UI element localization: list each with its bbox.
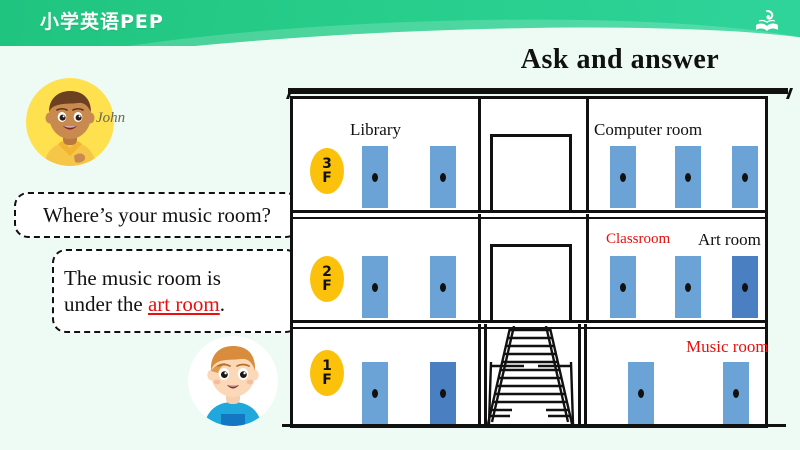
door-2f-left-2 <box>430 256 456 318</box>
door-3f-right-3 <box>732 146 758 208</box>
roof-right-eave <box>772 88 793 99</box>
floor-badge-3f-number: 3 <box>322 157 332 171</box>
door-knob-icon <box>685 173 691 182</box>
answer-speech-bubble: The music room is under the art room. <box>52 249 300 333</box>
door-2f-right-3-art-room <box>732 256 758 318</box>
door-3f-left-1 <box>362 146 388 208</box>
door-1f-left-1 <box>362 362 388 424</box>
door-knob-icon <box>620 173 626 182</box>
floor-badge-2f: 2 F <box>310 256 344 302</box>
question-speech-bubble: Where’s your music room? <box>14 192 300 238</box>
door-knob-icon <box>733 389 739 398</box>
door-3f-right-2 <box>675 146 701 208</box>
john-character: John <box>18 78 138 168</box>
divider-3f-left <box>478 99 481 210</box>
door-knob-icon <box>620 283 626 292</box>
door-2f-left-1 <box>362 256 388 318</box>
app-header: 小学英语PEP <box>0 0 800 46</box>
balcony-2f <box>490 244 572 320</box>
floor-separator-3-2 <box>290 210 768 219</box>
divider-2f-right <box>586 214 589 320</box>
pep-book-logo-icon <box>752 8 782 38</box>
floor-badge-2f-number: 2 <box>322 265 332 279</box>
floor-badge-1f: 1 F <box>310 350 344 396</box>
floor-badge-1f-letter: F <box>322 373 332 387</box>
door-3f-left-2 <box>430 146 456 208</box>
balcony-3f <box>490 134 572 210</box>
room-label-music-room: Music room <box>686 337 769 357</box>
door-knob-icon <box>440 389 446 398</box>
question-text: Where’s your music room? <box>43 203 271 228</box>
divider-1f-left <box>478 324 481 424</box>
divider-3f-right <box>586 99 589 210</box>
page-title: Ask and answer <box>470 44 770 76</box>
room-label-library: Library <box>350 120 401 140</box>
answer-line-1: The music room is <box>64 265 288 291</box>
floor-badge-2f-letter: F <box>322 279 332 293</box>
door-knob-icon <box>440 173 446 182</box>
responder-character <box>188 336 284 432</box>
school-building-diagram: 3 F Library Computer room 2 F Classroom … <box>288 88 792 436</box>
door-2f-right-1 <box>610 256 636 318</box>
door-knob-icon <box>638 389 644 398</box>
room-label-art-room: Art room <box>698 230 761 250</box>
answer-line2-suffix: . <box>220 292 225 316</box>
answer-line2-prefix: under the <box>64 292 148 316</box>
door-2f-right-2 <box>675 256 701 318</box>
door-knob-icon <box>440 283 446 292</box>
answer-line-2: under the art room. <box>64 291 288 317</box>
door-knob-icon <box>742 173 748 182</box>
door-1f-left-2 <box>430 362 456 424</box>
room-label-computer-room: Computer room <box>594 120 702 140</box>
answer-highlight-art-room: art room <box>148 292 220 316</box>
door-3f-right-1 <box>610 146 636 208</box>
floor-badge-3f: 3 F <box>310 148 344 194</box>
divider-1f-right <box>578 324 581 424</box>
door-knob-icon <box>685 283 691 292</box>
door-1f-right-1 <box>628 362 654 424</box>
door-knob-icon <box>742 283 748 292</box>
room-label-classroom: Classroom <box>606 231 670 248</box>
brand-title: 小学英语PEP <box>40 7 164 34</box>
john-name-label: John <box>96 110 125 127</box>
door-knob-icon <box>372 283 378 292</box>
door-knob-icon <box>372 173 378 182</box>
divider-2f-left <box>478 214 481 320</box>
door-1f-right-2-music-room <box>723 362 749 424</box>
floor-badge-1f-number: 1 <box>322 359 332 373</box>
floor-badge-3f-letter: F <box>322 171 332 185</box>
door-knob-icon <box>372 389 378 398</box>
divider-1f-right-2 <box>584 324 587 424</box>
staircase <box>484 326 576 424</box>
boy-avatar-blue-icon <box>188 336 284 432</box>
